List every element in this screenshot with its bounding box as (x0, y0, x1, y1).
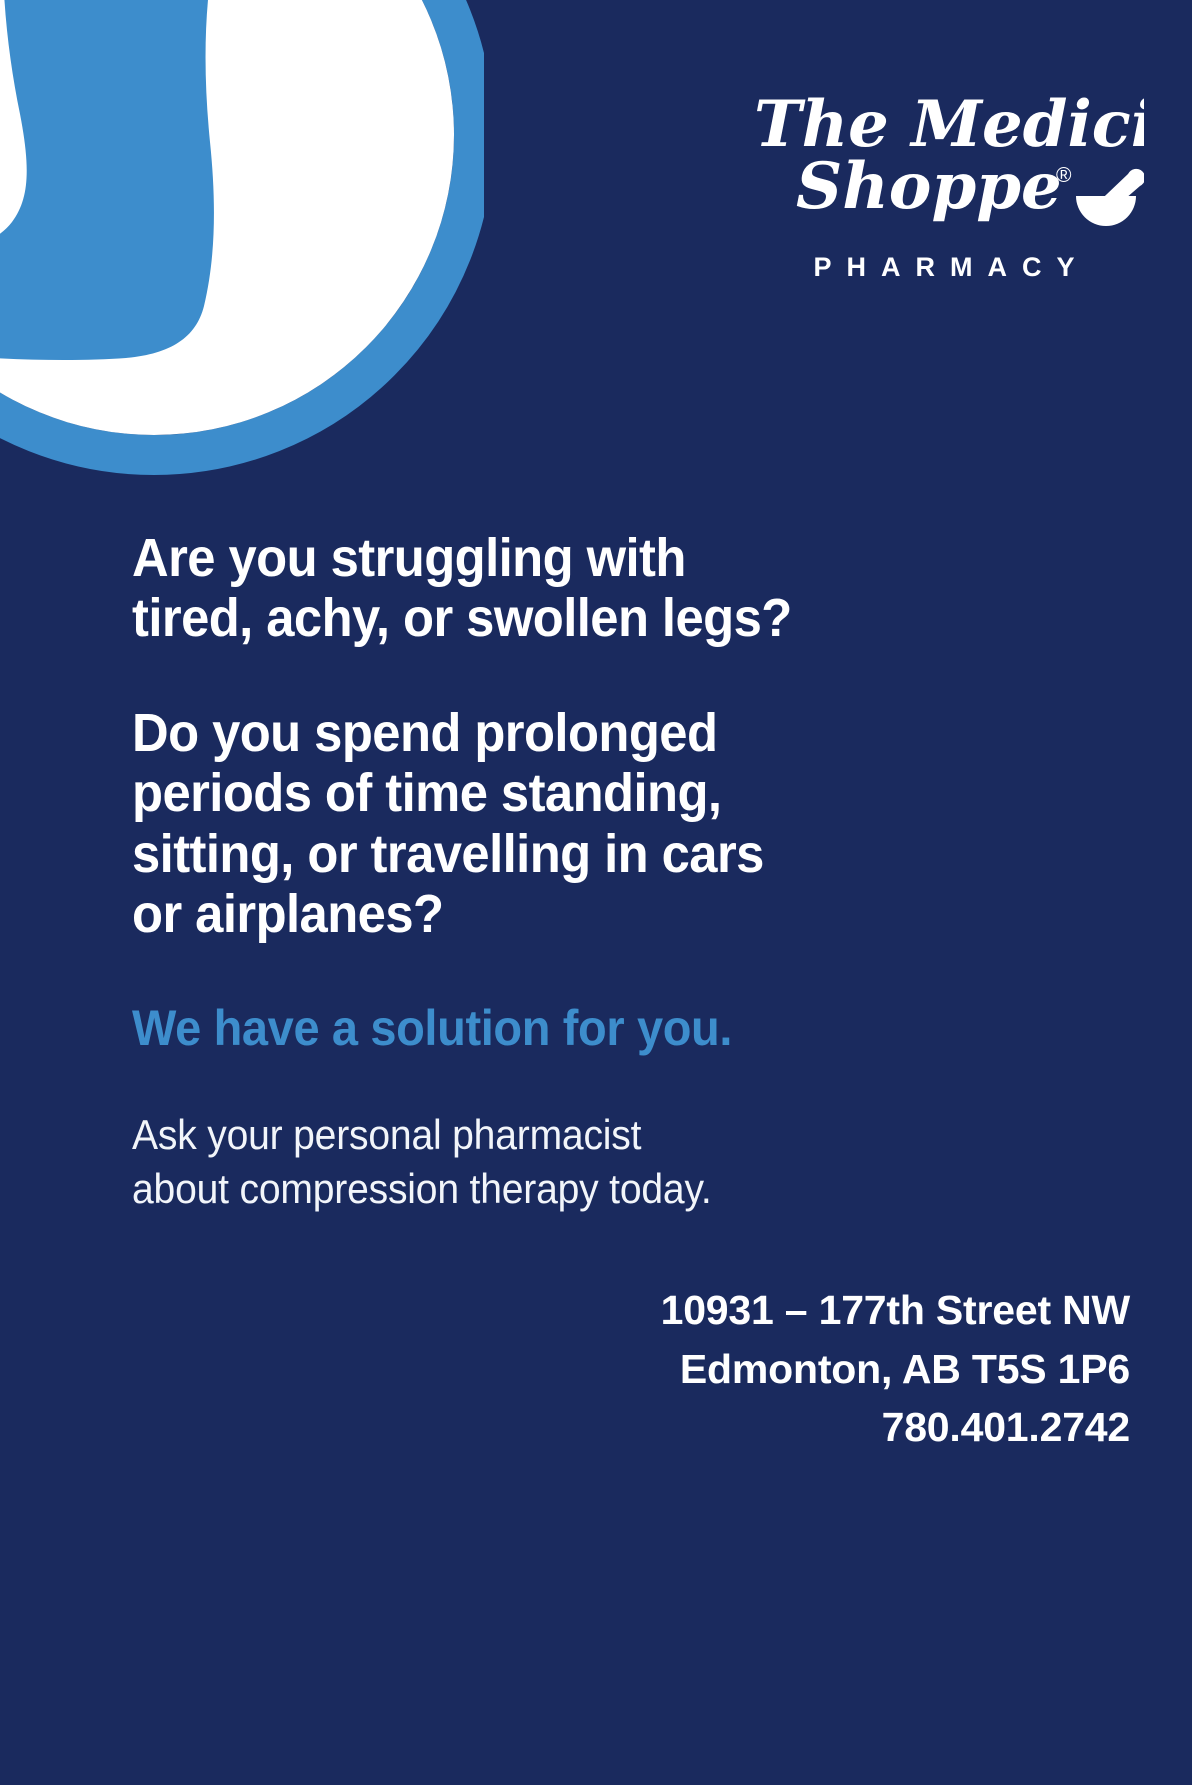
contact-phone-number[interactable]: 780.401.2742 (132, 1398, 1130, 1456)
circle-ring (0, 0, 474, 455)
contact-address-block: 10931 – 177th Street NW Edmonton, AB T5S… (132, 1281, 1132, 1456)
brand-logo: The Medicine Shoppe ® PHARMACY (744, 78, 1144, 281)
logo-pharmacy-tagline: PHARMACY (744, 254, 1144, 281)
poster-canvas: The Medicine Shoppe ® PHARMACY Are you s… (0, 0, 1192, 1785)
circle-inner-disc (0, 0, 454, 435)
headline-primary: Are you struggling with tired, achy, or … (132, 528, 1072, 649)
leg-silhouette (0, 0, 231, 360)
leg-compression-circle-graphic (0, 0, 484, 480)
address-street: 10931 – 177th Street NW (132, 1281, 1130, 1339)
address-city-postal: Edmonton, AB T5S 1P6 (132, 1340, 1130, 1398)
accent-solution-line: We have a solution for you. (132, 1001, 1072, 1056)
logo-script-line-2: Shoppe (796, 149, 1062, 224)
logo-script-mark: The Medicine Shoppe ® (744, 78, 1144, 248)
body-call-to-action: Ask your personal pharmacist about compr… (132, 1108, 1062, 1216)
registered-trademark-icon: ® (1056, 164, 1072, 187)
headline-secondary: Do you spend prolonged periods of time s… (132, 703, 1072, 945)
mortar-and-pestle-icon (1076, 169, 1144, 226)
poster-content: Are you struggling with tired, achy, or … (132, 528, 1132, 1456)
